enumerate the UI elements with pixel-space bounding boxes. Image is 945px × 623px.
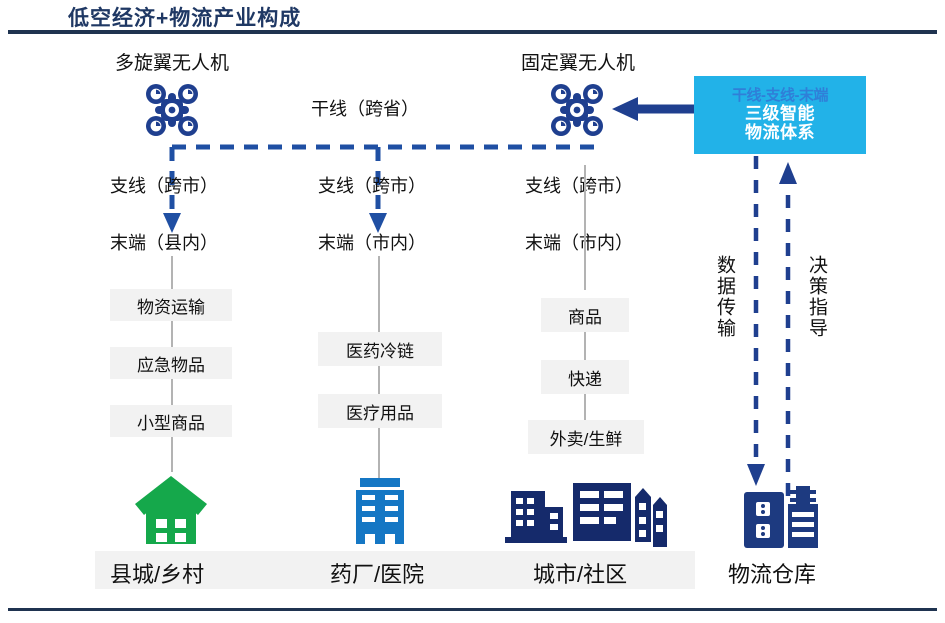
col1-connector xyxy=(171,437,173,472)
trunk-line-label: 干线（跨省） xyxy=(311,95,419,121)
col3-connector xyxy=(584,332,586,360)
system-box-line2: 三级智能 xyxy=(745,104,815,123)
col2-base-label: 药厂/医院 xyxy=(330,557,424,589)
feedback-label-decision: 决策指导 xyxy=(803,255,830,339)
footer-divider xyxy=(8,608,937,611)
col1-base-label: 县城/乡村 xyxy=(110,557,204,589)
title-divider xyxy=(8,30,937,34)
col2-connector xyxy=(378,256,380,332)
feedback-label-data: 数据传输 xyxy=(711,255,738,339)
col2-lastmile-label: 末端（市内） xyxy=(318,229,426,255)
col3-connector xyxy=(584,394,586,420)
col2-item-1: 医疗用品 xyxy=(318,394,442,428)
drone-label-fixedwing: 固定翼无人机 xyxy=(521,48,635,75)
system-callout-box: 干线-支线-末端 三级智能 物流体系 xyxy=(694,76,866,154)
col1-lastmile-label: 末端（县内） xyxy=(110,229,218,255)
warehouse-base-label: 物流仓库 xyxy=(728,557,816,589)
diagram-canvas: 低空经济+物流产业构成 多旋翼无人机 固定翼无人机 xyxy=(0,0,945,623)
col1-item-2: 小型商品 xyxy=(110,405,232,437)
col1-connector xyxy=(171,321,173,347)
city-buildings-icon xyxy=(503,479,667,547)
quadcopter-drone-icon xyxy=(144,82,200,138)
page-title: 低空经济+物流产业构成 xyxy=(68,2,301,32)
col3-lastmile-label: 末端（市内） xyxy=(525,229,633,255)
system-box-line1: 干线-支线-末端 xyxy=(732,88,828,105)
col3-item-1: 快递 xyxy=(541,360,629,394)
system-to-drone-arrow xyxy=(608,95,694,123)
col1-item-1: 应急物品 xyxy=(110,347,232,379)
col1-connector xyxy=(171,379,173,405)
col2-connector xyxy=(378,366,380,394)
col2-branch-label: 支线（跨市） xyxy=(318,172,426,198)
col1-item-0: 物资运输 xyxy=(110,289,232,321)
quadcopter-drone-icon xyxy=(549,82,605,138)
drone-label-multirotor: 多旋翼无人机 xyxy=(115,48,229,75)
col3-item-0: 商品 xyxy=(541,298,629,332)
col1-connector xyxy=(171,256,173,289)
col3-item-2: 外卖/生鲜 xyxy=(528,420,644,454)
house-icon xyxy=(134,474,208,546)
col1-branch-label: 支线（跨市） xyxy=(110,172,218,198)
col3-connector xyxy=(584,165,586,290)
col3-base-label: 城市/社区 xyxy=(533,557,627,589)
col2-connector xyxy=(378,428,380,478)
warehouse-tower-icon xyxy=(740,478,824,550)
system-box-line3: 物流体系 xyxy=(745,123,815,142)
col3-branch-label: 支线（跨市） xyxy=(525,172,633,198)
hospital-building-icon xyxy=(352,478,408,546)
col2-item-0: 医药冷链 xyxy=(318,332,442,366)
feedback-arrows xyxy=(745,156,799,496)
